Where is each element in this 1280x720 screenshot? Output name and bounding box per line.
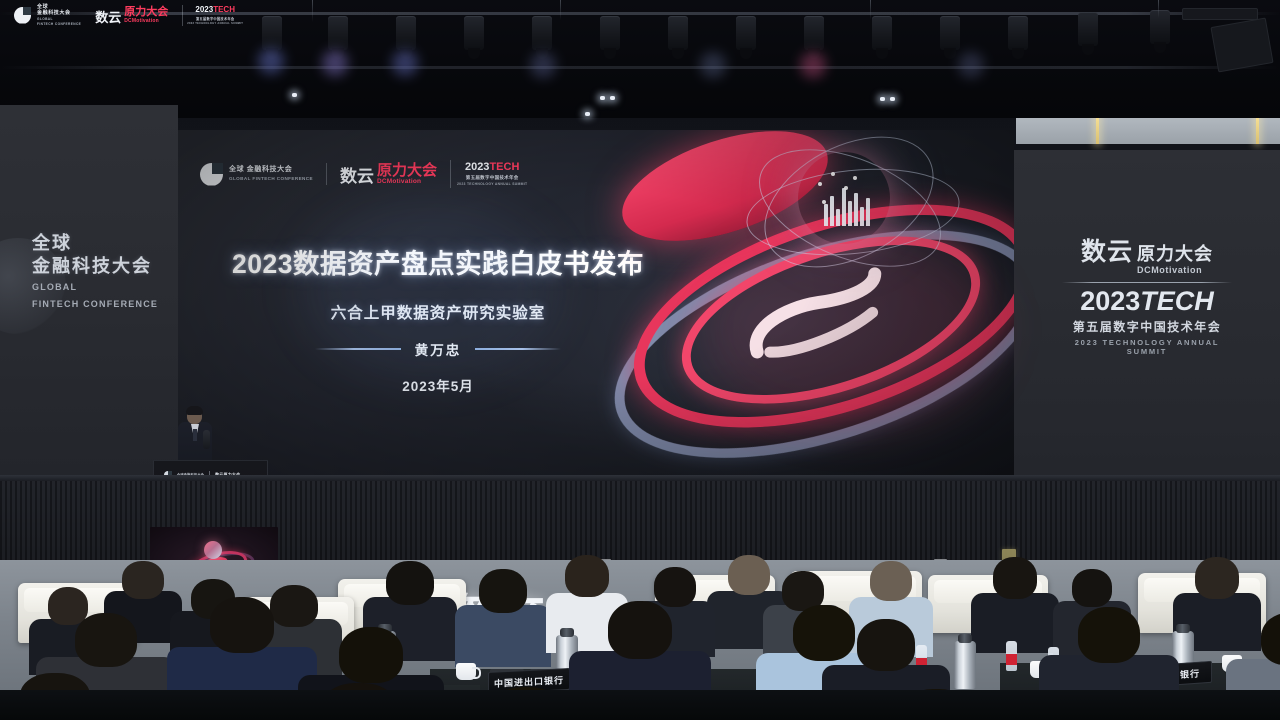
light-glow: [958, 52, 984, 78]
overlay-badge-cn: 第五届数字中国技术年会: [196, 16, 234, 21]
slide-date: 2023年5月: [218, 375, 658, 395]
light-glow: [800, 52, 826, 78]
ceiling-rig-box: [1210, 17, 1273, 72]
stage-light: [940, 16, 960, 50]
ceiling-spot: [585, 112, 590, 116]
screen-dcm-cn-main: 数云: [340, 168, 374, 185]
left-wall-cn-line1: 全球: [32, 232, 162, 255]
overlay-dcm-logo: 数云 原力大会 DCMotivation: [95, 7, 168, 24]
conference-stage-scene: 全球 金融科技大会 GLOBAL FINTECH CONFERENCE 数云 原…: [0, 0, 1280, 720]
slide-presenter: 黄万忠: [415, 339, 462, 359]
rigging-wire: [1158, 0, 1159, 18]
speaker-figure: [176, 407, 214, 465]
water-bottle: [1006, 641, 1017, 671]
overlay-gfc-cn2: 金融科技大会: [37, 10, 81, 16]
ceiling-spot: [292, 93, 297, 97]
rigging-wire: [560, 0, 561, 20]
gfc-mark-icon: [200, 163, 223, 186]
screen-badge-en: 2023 TECHNOLOGY ANNUAL SUMMIT: [457, 182, 527, 186]
right-wall-en-accent: DCMotivation: [1137, 265, 1202, 275]
overlay-gfc-mark-icon: [14, 7, 31, 24]
sphere-cityscape-icon: [824, 188, 870, 226]
screen-tech-badge: 2023TECH 第五届数字中国技术年会 2023 TECHNOLOGY ANN…: [450, 160, 533, 188]
stage-light: [600, 16, 620, 50]
light-glow: [530, 52, 556, 78]
right-wall-year: 2023: [1080, 286, 1140, 316]
right-wall-cn-accent: 原力大会: [1137, 245, 1213, 263]
left-wall-cn-line2: 金融科技大会: [32, 255, 162, 278]
right-wall-cn-main: 数云: [1081, 232, 1133, 268]
light-glow: [322, 50, 348, 76]
overlay-badge-tech: TECH: [213, 5, 235, 14]
stage-light: [804, 16, 824, 50]
right-wall-tech: TECH: [1140, 286, 1214, 316]
stage-light: [736, 16, 756, 50]
overlay-gfc-logo: 全球 金融科技大会 GLOBAL FINTECH CONFERENCE: [14, 4, 81, 27]
screen-dcm-cn-accent: 原力大会: [377, 163, 437, 178]
screen-badge-cn: 第五届数字中国技术年会: [466, 175, 519, 181]
screen-header-logos: 全球 金融科技大会 GLOBAL FINTECH CONFERENCE 数云 原…: [200, 160, 533, 188]
stage-light: [872, 16, 892, 50]
swirl-galaxy-graphic-icon: [618, 140, 1014, 470]
screen-badge-tech: TECH: [489, 161, 519, 173]
slide-rule-left: [315, 348, 401, 350]
stage-light: [668, 16, 688, 50]
tea-cup: [456, 663, 476, 680]
screen-dcm-en-accent: DCMotivation: [377, 178, 437, 185]
screen-dcm-logo: 数云 原力大会 DCMotivation: [340, 163, 437, 185]
stage-light: [396, 16, 416, 50]
right-wall-cn-sub: 第五届数字中国技术年会: [1062, 318, 1232, 335]
screen-gfc-logo: 全球 金融科技大会 GLOBAL FINTECH CONFERENCE: [200, 163, 313, 186]
stage-light: [464, 16, 484, 50]
screen-badge-year: 2023: [465, 161, 489, 173]
foreground-floor-shadow: [0, 690, 1280, 720]
overlay-dcm-en-accent: DCMotivation: [124, 18, 168, 24]
screen-gfc-cn: 全球 金融科技大会: [229, 166, 313, 175]
overlay-dcm-cn-accent: 原力大会: [124, 7, 168, 18]
audience-person: [466, 569, 540, 663]
logo-separator: [326, 163, 327, 185]
light-glow: [700, 52, 726, 78]
ceiling-spot: [610, 96, 615, 100]
truss-bar-rear: [0, 66, 1280, 69]
stage-light: [328, 16, 348, 50]
right-wall-divider: [1062, 282, 1232, 283]
microphone-icon: [203, 430, 210, 449]
overlay-gfc-en2: FINTECH CONFERENCE: [37, 22, 81, 26]
audience-person: [980, 557, 1050, 651]
ceiling-spot: [880, 97, 885, 101]
light-glow: [258, 48, 284, 74]
orbit-sphere-icon: [798, 152, 890, 244]
slide-text-block: 2023数据资产盘点实践白皮书发布 六合上甲数据资产研究实验室 黄万忠 2023…: [218, 242, 658, 395]
stage-light: [262, 16, 282, 50]
rigging-wire: [870, 0, 871, 20]
slide-subtitle: 六合上甲数据资产研究实验室: [218, 301, 658, 323]
stage-light: [1008, 16, 1028, 50]
left-wall-en-line1: GLOBAL: [32, 281, 162, 295]
light-glow: [392, 50, 418, 76]
stage-light: [532, 16, 552, 50]
thermos-flask: [954, 641, 976, 689]
stage-light: [1078, 12, 1098, 46]
ceiling-spot: [890, 97, 895, 101]
right-wall-en-sub: 2023 TECHNOLOGY ANNUAL SUMMIT: [1062, 338, 1232, 356]
slide-rule-right: [475, 348, 561, 350]
stage-light: [1150, 10, 1170, 44]
screen-gfc-en: GLOBAL FINTECH CONFERENCE: [229, 176, 313, 182]
overlay-tech-badge: 2023TECH 第五届数字中国技术年会 2023 TECHNOLOGY ANN…: [182, 5, 247, 26]
rigging-wire: [312, 0, 313, 22]
ceiling-rig-box: [1182, 8, 1258, 20]
left-wall-en-line2: FINTECH CONFERENCE: [32, 298, 162, 312]
overlay-gfc-en1: GLOBAL: [37, 17, 81, 21]
right-wall-branding: 数云 原力大会 DCMotivation 2023TECH 第五届数字中国技术年…: [1062, 232, 1232, 356]
main-presentation-screen: 全球 金融科技大会 GLOBAL FINTECH CONFERENCE 数云 原…: [178, 130, 1014, 475]
left-wall-branding: 全球 金融科技大会 GLOBAL FINTECH CONFERENCE: [32, 232, 162, 311]
overlay-badge-year: 2023: [195, 5, 213, 14]
slide-title: 2023数据资产盘点实践白皮书发布: [218, 242, 658, 281]
overlay-dcm-cn-main: 数云: [95, 11, 121, 24]
broadcast-logo-overlay: 全球 金融科技大会 GLOBAL FINTECH CONFERENCE 数云 原…: [0, 0, 254, 30]
ceiling-spot: [600, 96, 605, 100]
overlay-badge-en: 2023 TECHNOLOGY ANNUAL SUMMIT: [187, 22, 243, 25]
